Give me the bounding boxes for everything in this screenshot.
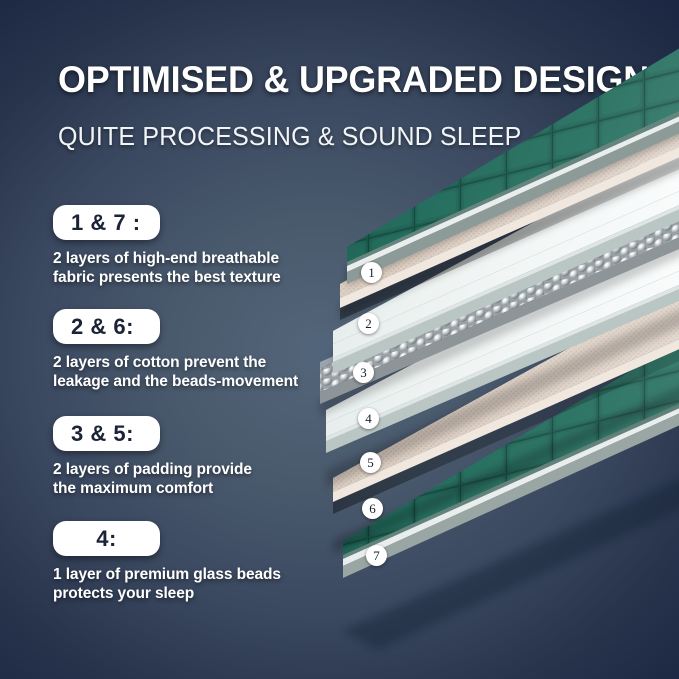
exploded-layer-diagram: 1 2 3 4 5 6 7 <box>0 0 679 679</box>
layer-badge-5: 5 <box>360 452 381 473</box>
layer-badge-7: 7 <box>366 545 387 566</box>
layer-badge-2: 2 <box>358 313 379 334</box>
layer-stack-svg <box>0 0 679 679</box>
infographic-canvas: OPTIMISED & UPGRADED DESIGN QUITE PROCES… <box>0 0 679 679</box>
layer-badge-3: 3 <box>353 362 374 383</box>
layer-badge-6: 6 <box>362 498 383 519</box>
layer-badge-1: 1 <box>361 262 382 283</box>
layer-badge-4: 4 <box>358 408 379 429</box>
